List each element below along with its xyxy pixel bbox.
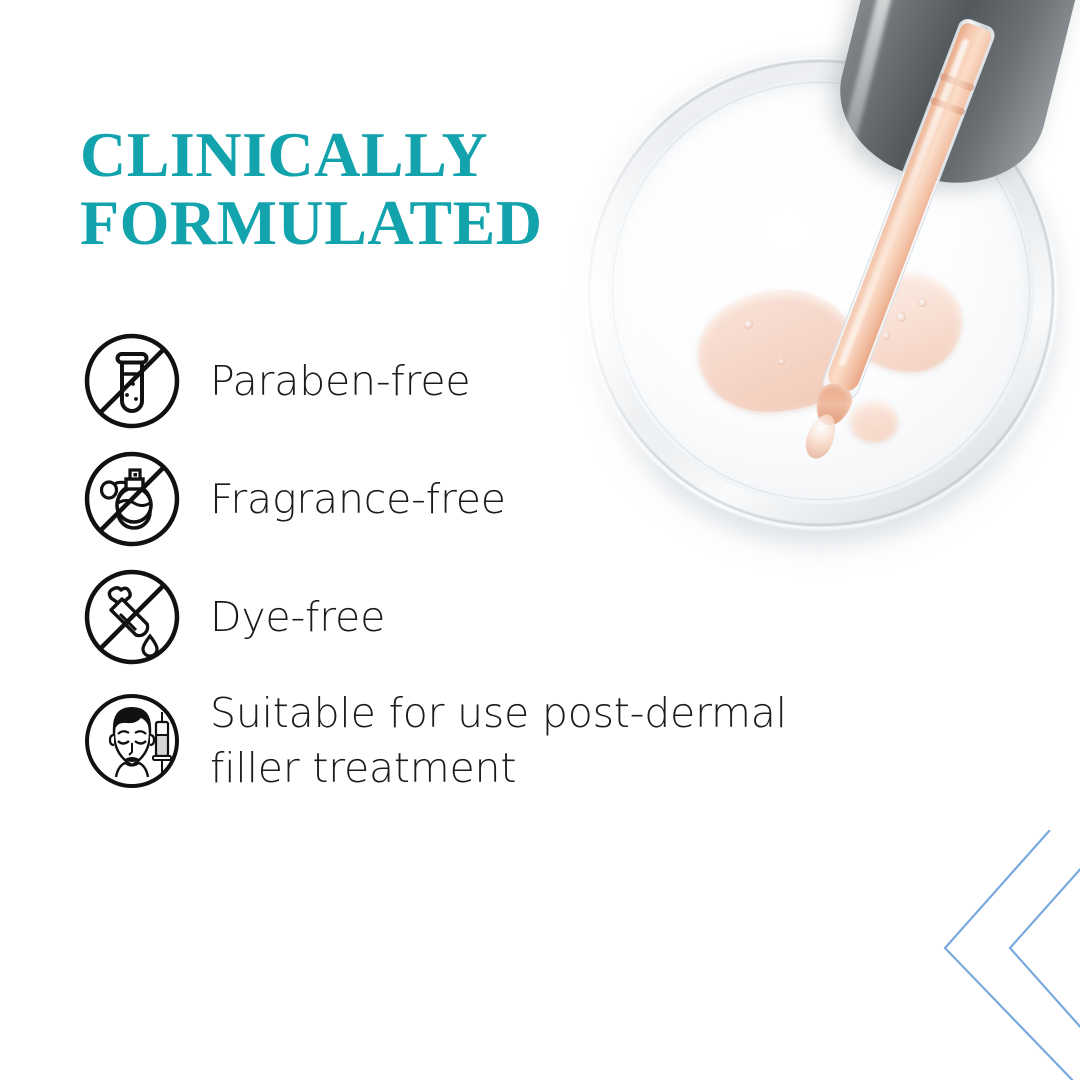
face-syringe-icon — [78, 687, 186, 795]
no-dropper-icon — [78, 563, 186, 671]
serum-droplet-small — [850, 400, 898, 442]
serum-bubble — [896, 312, 906, 322]
serum-puddle-medium — [850, 272, 962, 372]
pipette-band — [930, 97, 966, 116]
feature-item-fragrance-free: Fragrance-free — [78, 440, 838, 558]
dropper-bottle — [823, 0, 1080, 203]
promo-graphic-canvas: CLINICALLY FORMULATED Paraben-free — [0, 0, 1080, 1080]
serum-bubble — [872, 296, 885, 309]
feature-item-paraben-free: Paraben-free — [78, 322, 838, 440]
feature-list: Paraben-free — [78, 322, 838, 806]
feature-label: Paraben-free — [210, 354, 470, 409]
pipette-highlight — [838, 38, 970, 367]
serum-bubble — [918, 298, 927, 307]
corner-chevron-lines — [890, 830, 1080, 1080]
glass-pipette-dropper — [817, 16, 997, 407]
feature-label: Fragrance-free — [210, 472, 506, 527]
pipette-serum-fill — [824, 21, 994, 397]
dropper-bottle-highlight — [839, 0, 907, 154]
feature-item-dye-free: Dye-free — [78, 558, 838, 676]
pipette-glass-tube — [817, 16, 997, 407]
page-title: CLINICALLY FORMULATED — [80, 121, 640, 257]
feature-label: Suitable for use post-dermal filler trea… — [210, 686, 838, 796]
feature-item-post-dermal-filler: Suitable for use post-dermal filler trea… — [78, 676, 838, 806]
no-perfume-bottle-icon — [78, 445, 186, 553]
pipette-band — [939, 72, 975, 91]
no-test-tube-icon — [78, 327, 186, 435]
serum-bubble — [882, 332, 890, 340]
feature-label: Dye-free — [210, 590, 385, 645]
